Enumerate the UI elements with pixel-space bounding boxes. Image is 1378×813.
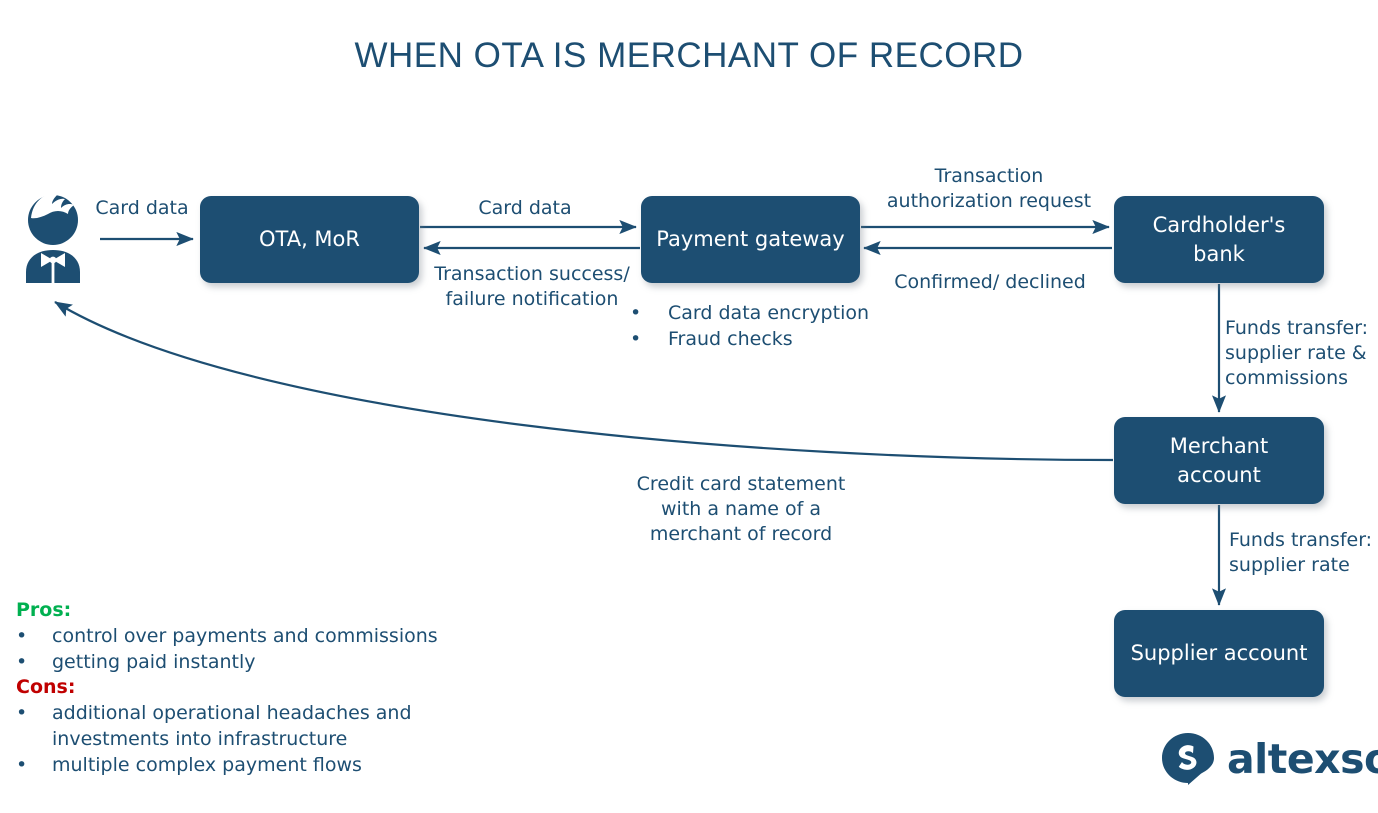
gateway-notes-list: • Card data encryption • Fraud checks <box>630 300 960 352</box>
bullet-icon: • <box>16 701 52 727</box>
page-title: WHEN OTA IS MERCHANT OF RECORD <box>0 36 1378 76</box>
logo-text: altexsoft <box>1227 739 1378 780</box>
bullet-icon: • <box>630 326 668 352</box>
gateway-note-text: Fraud checks <box>668 326 793 352</box>
gateway-note-text: Card data encryption <box>668 300 869 326</box>
node-cardholders-bank[interactable]: Cardholder's bank <box>1114 196 1324 283</box>
pros-cons-block: Pros: • control over payments and commis… <box>16 598 486 779</box>
bullet-icon: • <box>630 300 668 326</box>
altexsoft-logo: altexsoft <box>1160 731 1378 787</box>
cons-item-text: additional operational headaches and inv… <box>52 701 412 753</box>
edge-label-funds-transfer-supplier-rate: Funds transfer: supplier rate <box>1229 528 1378 578</box>
node-ota-mor[interactable]: OTA, MoR <box>200 196 419 283</box>
pros-heading: Pros: <box>16 598 486 624</box>
node-supplier-account[interactable]: Supplier account <box>1114 610 1324 697</box>
pros-item-text: getting paid instantly <box>52 650 255 676</box>
node-payment-gateway[interactable]: Payment gateway <box>641 196 860 283</box>
diagram-canvas: WHEN OTA IS MERCHANT OF RECORD <box>0 0 1378 813</box>
cons-heading: Cons: <box>16 675 486 701</box>
edge-label-card-data-ota-to-gateway: Card data <box>455 196 595 221</box>
edge-label-card-data-customer-to-ota: Card data <box>92 196 192 221</box>
list-item: • getting paid instantly <box>16 650 486 676</box>
list-item: • Fraud checks <box>630 326 960 352</box>
list-item: • additional operational headaches and i… <box>16 701 486 753</box>
bullet-icon: • <box>16 650 52 676</box>
bullet-icon: • <box>16 624 52 650</box>
list-item: • multiple complex payment flows <box>16 753 486 779</box>
list-item: • Card data encryption <box>630 300 960 326</box>
edge-label-funds-transfer-supplier-rate-commissions: Funds transfer: supplier rate & commissi… <box>1225 316 1378 391</box>
bullet-icon: • <box>16 753 52 779</box>
edge-label-confirmed-declined: Confirmed/ declined <box>883 270 1097 295</box>
edge-label-credit-card-statement: Credit card statement with a name of a m… <box>620 472 862 547</box>
cons-item-text: multiple complex payment flows <box>52 753 362 779</box>
list-item: • control over payments and commissions <box>16 624 486 650</box>
node-merchant-account[interactable]: Merchant account <box>1114 417 1324 504</box>
altexsoft-speech-bubble-icon <box>1160 731 1216 787</box>
edge-label-transaction-authorization-request: Transaction authorization request <box>878 164 1100 214</box>
person-avatar-icon <box>18 190 88 285</box>
pros-item-text: control over payments and commissions <box>52 624 438 650</box>
edge-label-transaction-success-failure: Transaction success/ failure notificatio… <box>421 262 643 312</box>
